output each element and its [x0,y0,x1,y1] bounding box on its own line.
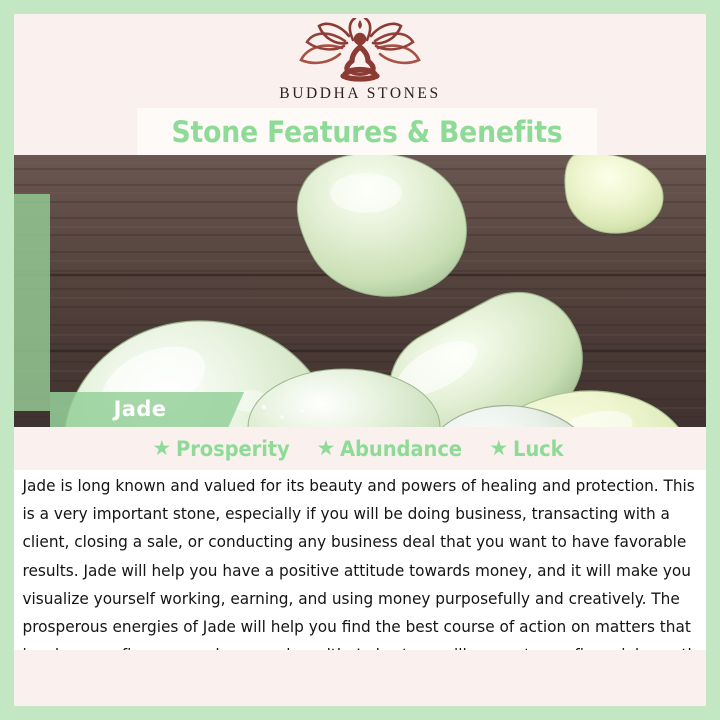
benefits-row: ★ Prosperity ★ Abundance ★ Luck [14,427,706,470]
star-icon: ★ [489,438,508,459]
lotus-meditation-icon [285,18,435,84]
photo-left-accent-bar [14,194,50,411]
benefit-item: ★ Abundance [316,437,471,461]
benefit-item: ★ Prosperity [152,437,298,461]
benefit-label: Luck [513,437,564,461]
frame-border-top [0,0,720,14]
frame-border-bottom [0,706,720,720]
brand-name: BUDDHA STONES [14,85,706,103]
page-title: Stone Features & Benefits [155,110,578,154]
stone-name: Jade [50,392,230,427]
stone-photo-graphic [14,155,706,427]
frame-border-left [0,0,14,720]
brand-header: BUDDHA STONES [14,14,706,106]
frame-border-right [706,0,720,720]
stone-photo [14,155,706,427]
logo: BUDDHA STONES [14,18,706,103]
benefit-item: ★ Luck [489,437,567,461]
benefit-label: Prosperity [176,437,290,461]
infographic-card: BUDDHA STONES Stone Features & Benefits [0,0,720,720]
card-inner: BUDDHA STONES Stone Features & Benefits [14,14,706,706]
star-icon: ★ [316,438,335,459]
star-icon: ★ [152,438,171,459]
footer-fill [14,650,706,706]
benefit-label: Abundance [340,437,462,461]
